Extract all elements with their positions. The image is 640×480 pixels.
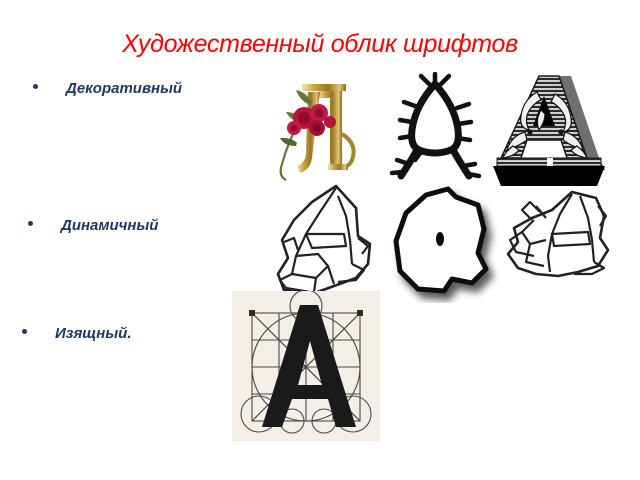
bullet-item-decorative: Декоративный [33,80,182,97]
ornate-pedestal-letter-a-image [493,70,615,192]
bullet-label-dynamic: Динамичный [61,217,158,234]
golden-rose-letter-image [272,72,372,192]
geometric-construction-letter-a-image [232,291,380,441]
bullet-item-elegant: Изящный. [22,325,132,342]
bullet-dot-icon [22,329,27,334]
bullet-dot-icon [33,84,38,89]
bullet-label-decorative: Декоративный [66,80,182,97]
bullet-dot-icon [28,221,33,226]
thorn-letter-a-image [385,72,485,192]
slide-canvas: Художественный облик шрифтов Декоративны… [0,0,640,480]
bullet-item-dynamic: Динамичный [28,217,158,234]
graffiti-letter-two-image [500,188,615,298]
bullet-label-elegant: Изящный. [55,325,132,342]
bold-shadow-letter-image [390,183,500,303]
page-title: Художественный облик шрифтов [0,30,640,59]
graffiti-letter-one-image [272,182,382,302]
